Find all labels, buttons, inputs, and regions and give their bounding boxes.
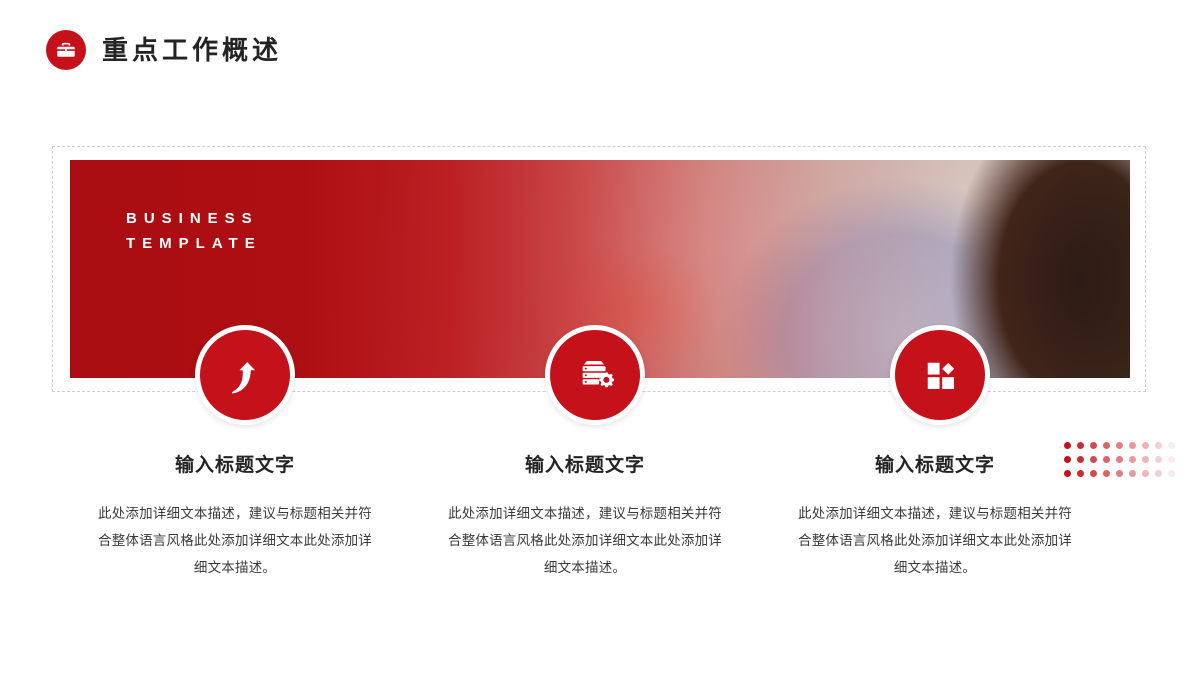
banner-overline: BUSINESS: [126, 206, 262, 231]
dot: [1090, 470, 1097, 477]
dot: [1129, 456, 1136, 463]
dot: [1129, 442, 1136, 449]
dot: [1142, 456, 1149, 463]
dot: [1103, 442, 1110, 449]
dot: [1129, 470, 1136, 477]
banner-text-block: BUSINESS TEMPLATE: [126, 206, 262, 256]
card-column-1: 输入标题文字 此处添加详细文本描述，建议与标题相关并符合整体语言风格此处添加详细…: [60, 455, 410, 581]
card-title: 输入标题文字: [760, 455, 1110, 478]
card-columns: 输入标题文字 此处添加详细文本描述，建议与标题相关并符合整体语言风格此处添加详细…: [60, 455, 1120, 581]
dot: [1103, 456, 1110, 463]
briefcase-icon: [46, 30, 86, 70]
card-icon-circle-1[interactable]: [195, 325, 295, 425]
dot: [1168, 456, 1175, 463]
dot: [1168, 442, 1175, 449]
dot: [1090, 442, 1097, 449]
dot: [1142, 442, 1149, 449]
growth-arrow-icon: [222, 352, 268, 398]
dot: [1155, 470, 1162, 477]
card-column-2: 输入标题文字 此处添加详细文本描述，建议与标题相关并符合整体语言风格此处添加详细…: [410, 455, 760, 581]
dot: [1077, 442, 1084, 449]
card-body: 此处添加详细文本描述，建议与标题相关并符合整体语言风格此处添加详细文本此处添加详…: [410, 500, 760, 581]
page-title: 重点工作概述: [102, 37, 282, 63]
card-column-3: 输入标题文字 此处添加详细文本描述，建议与标题相关并符合整体语言风格此处添加详细…: [760, 455, 1110, 581]
dot: [1064, 470, 1071, 477]
dot: [1142, 470, 1149, 477]
dot: [1077, 470, 1084, 477]
dot: [1116, 470, 1123, 477]
dot: [1090, 456, 1097, 463]
dot: [1168, 470, 1175, 477]
dot: [1116, 442, 1123, 449]
dot-grid-decoration: [1064, 438, 1181, 480]
card-icon-circle-2[interactable]: [545, 325, 645, 425]
blocks-grid-icon: [919, 354, 961, 396]
dot: [1116, 456, 1123, 463]
dot: [1077, 456, 1084, 463]
card-title: 输入标题文字: [60, 455, 410, 478]
dot: [1064, 442, 1071, 449]
dot: [1155, 456, 1162, 463]
page-header: 重点工作概述: [46, 30, 282, 70]
card-title: 输入标题文字: [410, 455, 760, 478]
dot: [1064, 456, 1071, 463]
database-gear-icon: [573, 353, 617, 397]
banner-subline: TEMPLATE: [126, 231, 262, 256]
card-icon-circle-3[interactable]: [890, 325, 990, 425]
dot: [1103, 470, 1110, 477]
card-body: 此处添加详细文本描述，建议与标题相关并符合整体语言风格此处添加详细文本此处添加详…: [60, 500, 410, 581]
dot: [1155, 442, 1162, 449]
card-body: 此处添加详细文本描述，建议与标题相关并符合整体语言风格此处添加详细文本此处添加详…: [760, 500, 1110, 581]
